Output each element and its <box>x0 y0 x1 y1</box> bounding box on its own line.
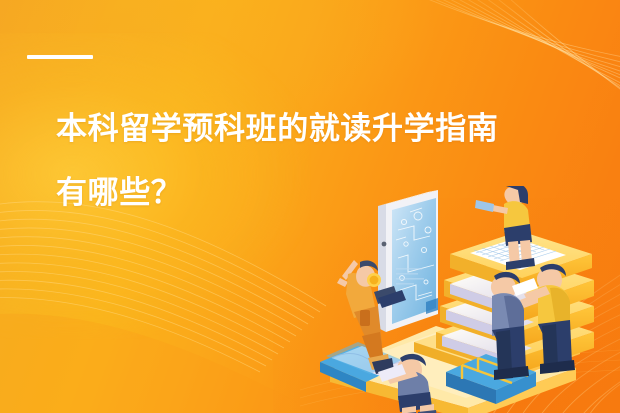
accent-divider-rule <box>27 55 93 59</box>
tablet-camera-dot <box>382 242 387 247</box>
illustration-tablet <box>378 190 438 332</box>
headline-line-1: 本科留学预科班的就读升学指南 <box>56 97 576 161</box>
promo-banner: 本科留学预科班的就读升学指南 有哪些？ <box>0 0 620 413</box>
isometric-study-illustration <box>318 186 620 413</box>
illustration-coin <box>367 273 381 287</box>
